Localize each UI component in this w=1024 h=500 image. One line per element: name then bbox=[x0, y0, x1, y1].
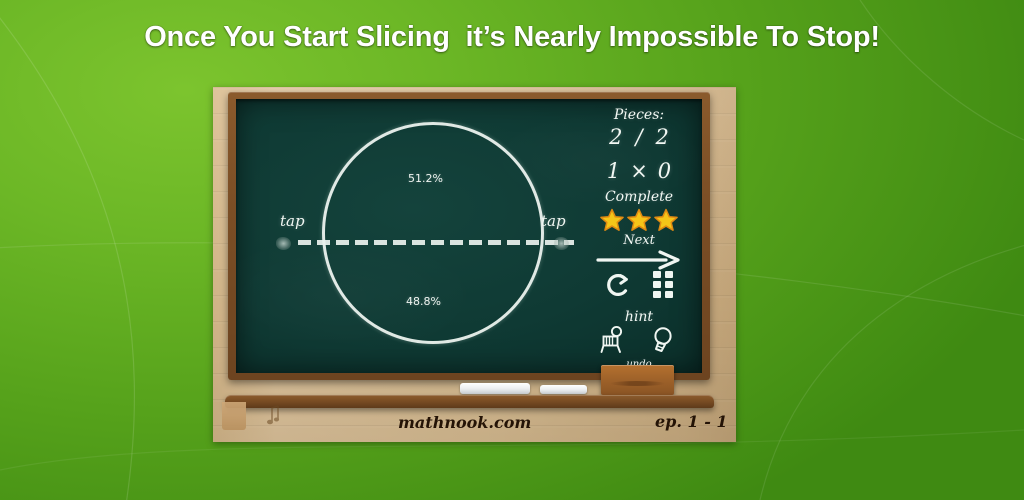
ruler-hint-icon[interactable] bbox=[600, 325, 630, 355]
slice-cut-line[interactable] bbox=[298, 240, 574, 245]
next-arrow-icon[interactable] bbox=[594, 249, 684, 271]
grid-cell bbox=[665, 291, 673, 298]
hud-panel: Pieces: 2 / 2 1 × 0 Complete bbox=[580, 103, 698, 371]
slice-handle-left-icon[interactable] bbox=[276, 237, 291, 250]
star-icon bbox=[626, 207, 652, 233]
percent-bottom-label: 48.8% bbox=[406, 295, 441, 308]
pieces-separator: / bbox=[635, 125, 642, 149]
replay-icon[interactable] bbox=[605, 272, 631, 298]
hud-icon-row bbox=[580, 271, 698, 298]
moves-separator: × bbox=[630, 159, 648, 183]
pieces-counter: 2 / 2 bbox=[580, 125, 698, 149]
chalk-stick[interactable] bbox=[540, 385, 587, 394]
grid-cell bbox=[665, 281, 673, 288]
chalk-stick[interactable] bbox=[460, 383, 530, 394]
grid-cell bbox=[665, 271, 673, 278]
moves-counter: 1 × 0 bbox=[580, 159, 698, 183]
episode-label: ep. 1 - 1 bbox=[655, 412, 728, 431]
star-rating bbox=[580, 207, 698, 233]
tap-right-label: tap bbox=[541, 212, 566, 230]
hint-icon-row bbox=[580, 325, 698, 355]
star-icon bbox=[653, 207, 679, 233]
chalk-tray bbox=[225, 395, 714, 408]
grid-cell bbox=[653, 271, 661, 278]
pieces-current: 2 bbox=[609, 125, 622, 149]
chalkboard-frame: 51.2% 48.8% tap tap Pieces: 2 / 2 1 × 0 … bbox=[228, 92, 710, 380]
lightbulb-hint-icon[interactable] bbox=[648, 325, 678, 355]
eraser-block[interactable] bbox=[601, 365, 674, 395]
chalkboard-surface[interactable]: 51.2% 48.8% tap tap Pieces: 2 / 2 1 × 0 … bbox=[236, 99, 702, 373]
pieces-total: 2 bbox=[656, 125, 669, 149]
pieces-label: Pieces: bbox=[580, 107, 698, 123]
site-caption: mathnook.com bbox=[398, 413, 531, 432]
hint-label: hint bbox=[580, 309, 698, 325]
moves-current: 1 bbox=[607, 159, 620, 183]
slice-handle-right-icon[interactable] bbox=[554, 237, 569, 250]
music-note-icon bbox=[266, 404, 282, 426]
complete-label: Complete bbox=[580, 189, 698, 205]
tray-bracket bbox=[222, 402, 246, 430]
moves-total: 0 bbox=[658, 159, 671, 183]
page-title: Once You Start Slicing it’s Nearly Impos… bbox=[0, 21, 1024, 54]
grid-cell bbox=[653, 281, 661, 288]
next-label: Next bbox=[580, 233, 698, 248]
grid-cell bbox=[653, 291, 661, 298]
levels-grid-icon[interactable] bbox=[653, 271, 673, 298]
tap-left-label: tap bbox=[280, 212, 305, 230]
slice-circle bbox=[322, 122, 544, 344]
percent-top-label: 51.2% bbox=[408, 172, 443, 185]
star-icon bbox=[599, 207, 625, 233]
